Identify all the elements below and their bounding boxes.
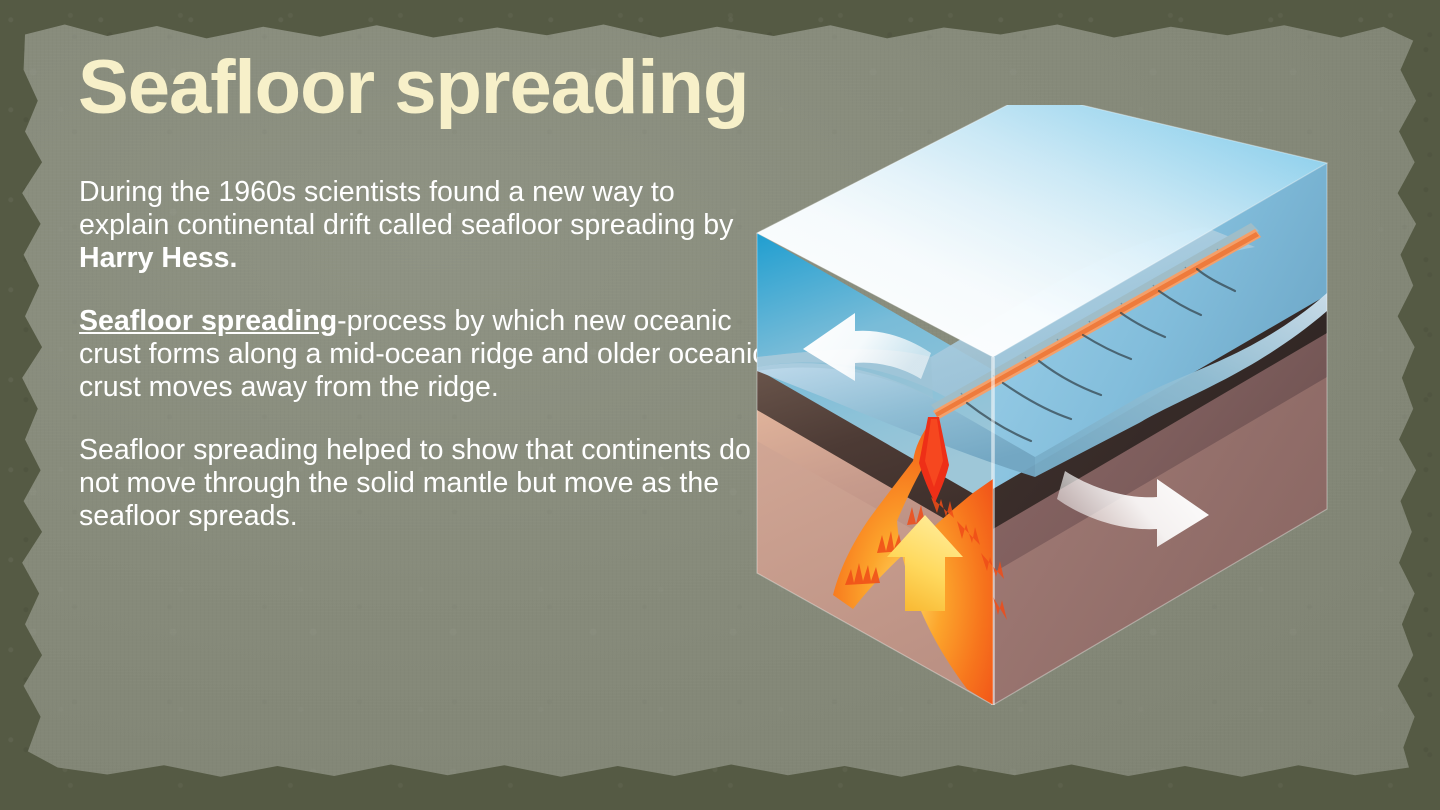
- seafloor-spreading-diagram: [735, 105, 1440, 705]
- paragraph-conclusion: Seafloor spreading helped to show that c…: [79, 434, 769, 533]
- text-run: Seafloor spreading helped to show that c…: [79, 434, 751, 532]
- paragraph-intro: During the 1960s scientists found a new …: [79, 176, 769, 275]
- text-run-bold-underline: Seafloor spreading: [79, 305, 337, 337]
- paragraph-definition: Seafloor spreading-process by which new …: [79, 305, 769, 404]
- slide-body-text: During the 1960s scientists found a new …: [79, 176, 769, 533]
- text-run-bold: Harry Hess.: [79, 242, 237, 274]
- text-run: During the 1960s scientists found a new …: [79, 176, 733, 241]
- slide-canvas: Seafloor spreading During the 1960s scie…: [0, 0, 1440, 810]
